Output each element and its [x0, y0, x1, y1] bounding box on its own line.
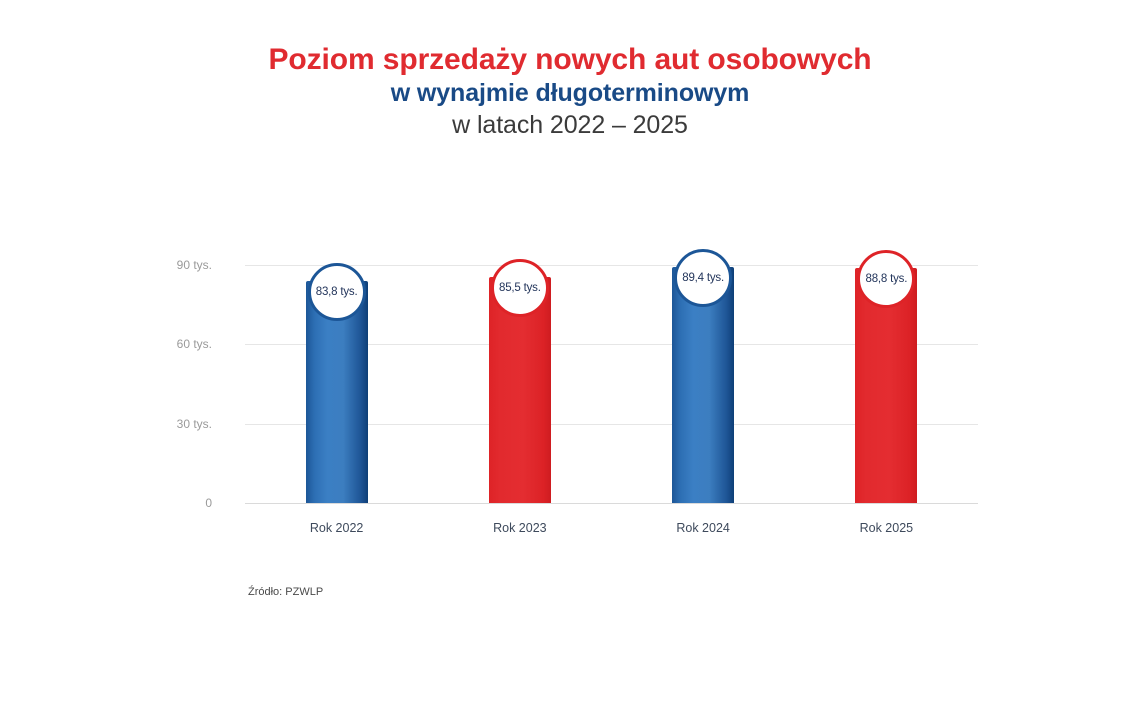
bar-value-label: 88,8 tys.: [866, 273, 908, 285]
y-axis-labels: 030 tys.60 tys.90 tys.: [0, 265, 228, 503]
bar-value-label: 89,4 tys.: [682, 272, 724, 284]
bar-value-bubble: 83,8 tys.: [308, 263, 366, 321]
y-tick-label-60: 60 tys.: [12, 337, 212, 351]
bar-value-label: 85,5 tys.: [499, 282, 541, 294]
gridline-0: [245, 503, 978, 504]
x-axis-labels: Rok 2022Rok 2023Rok 2024Rok 2025: [245, 521, 978, 543]
bar-group: 89,4 tys.: [612, 265, 795, 503]
chart-title-line-2: w wynajmie długoterminowym: [0, 79, 1140, 108]
chart-title-line-1: Poziom sprzedaży nowych aut osobowych: [0, 42, 1140, 77]
source-note: Źródło: PZWLP: [248, 586, 323, 598]
x-tick-label-2: Rok 2024: [612, 521, 795, 535]
x-tick-label-1: Rok 2023: [428, 521, 611, 535]
bar-series: 83,8 tys.85,5 tys.89,4 tys.88,8 tys.: [245, 265, 978, 503]
bar-value-label: 83,8 tys.: [316, 286, 358, 298]
chart-title-line-3: w latach 2022 – 2025: [0, 111, 1140, 140]
bar-value-bubble: 85,5 tys.: [491, 259, 549, 317]
bar-group: 83,8 tys.: [245, 265, 428, 503]
y-tick-label-90: 90 tys.: [12, 258, 212, 272]
x-tick-label-3: Rok 2025: [795, 521, 978, 535]
bar-group: 85,5 tys.: [428, 265, 611, 503]
bar-value-bubble: 89,4 tys.: [674, 249, 732, 307]
chart-container: Poziom sprzedaży nowych aut osobowych w …: [0, 0, 1140, 722]
bar-value-bubble: 88,8 tys.: [857, 250, 915, 308]
bar-group: 88,8 tys.: [795, 265, 978, 503]
chart-title: Poziom sprzedaży nowych aut osobowych w …: [0, 42, 1140, 141]
y-tick-label-0: 0: [12, 496, 212, 510]
x-tick-label-0: Rok 2022: [245, 521, 428, 535]
y-tick-label-30: 30 tys.: [12, 417, 212, 431]
